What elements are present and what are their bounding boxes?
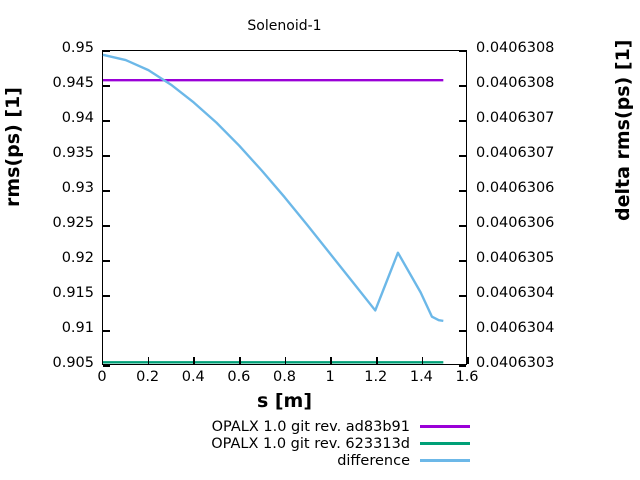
y-axis-left-tick-label: 0.93: [62, 180, 94, 196]
legend-color-swatch: [420, 425, 470, 428]
plot-area: [102, 50, 467, 365]
y-axis-left-tick-label: 0.91: [62, 320, 94, 336]
y-axis-left-tick-label: 0.92: [62, 250, 94, 266]
y-axis-right-tick: [459, 85, 466, 87]
x-axis-tick: [376, 357, 378, 364]
chart-legend: OPALX 1.0 git rev. ad83b91OPALX 1.0 git …: [160, 418, 470, 469]
y-axis-left-label: rms(ps) [1]: [2, 87, 24, 207]
x-axis-tick-label: 0: [97, 369, 106, 385]
x-axis-tick: [330, 357, 332, 364]
y-axis-right-tick-label: 0.0406304: [476, 320, 554, 336]
y-axis-right-tick-label: 0.0406308: [476, 40, 554, 56]
x-axis-label: s [m]: [102, 390, 467, 412]
y-axis-left-tick-label: 0.945: [52, 75, 94, 91]
y-axis-left-tick: [103, 155, 110, 157]
y-axis-left-tick: [103, 295, 110, 297]
x-axis-tick-label: 0.6: [227, 369, 250, 385]
x-axis-tick-label: 0.4: [182, 369, 205, 385]
y-axis-right-tick: [459, 260, 466, 262]
chart-figure: Solenoid-1 rms(ps) [1] delta rms(ps) [1]…: [0, 0, 640, 480]
y-axis-left-tick-label: 0.905: [52, 355, 94, 371]
series-lines: [103, 51, 466, 364]
y-axis-right-label: delta rms(ps) [1]: [612, 40, 634, 221]
y-axis-right-tick-label: 0.0406305: [476, 250, 554, 266]
y-axis-left-tick-label: 0.915: [52, 285, 94, 301]
y-axis-right-tick-label: 0.0406307: [476, 110, 554, 126]
y-axis-left-tick: [103, 50, 110, 52]
legend-item-label: OPALX 1.0 git rev. ad83b91: [212, 419, 410, 435]
y-axis-right-tick-label: 0.0406306: [476, 215, 554, 231]
x-axis-tick-label: 0.8: [273, 369, 296, 385]
chart-title: Solenoid-1: [102, 18, 467, 34]
legend-item[interactable]: OPALX 1.0 git rev. ad83b91: [160, 418, 470, 435]
y-axis-right-tick: [459, 295, 466, 297]
y-axis-left-tick: [103, 225, 110, 227]
series-line: [103, 55, 443, 321]
x-axis-tick-label: 1.4: [410, 369, 433, 385]
x-axis-tick-label: 1.6: [455, 369, 478, 385]
x-axis-tick-label: 1: [326, 369, 335, 385]
y-axis-right-tick: [459, 155, 466, 157]
legend-item[interactable]: difference: [160, 452, 470, 469]
y-axis-left-tick-label: 0.925: [52, 215, 94, 231]
y-axis-left-tick-label: 0.94: [62, 110, 94, 126]
y-axis-right-tick: [459, 225, 466, 227]
y-axis-right-tick: [459, 365, 466, 367]
x-axis-tick: [193, 357, 195, 364]
y-axis-left-tick: [103, 365, 110, 367]
y-axis-left-tick-label: 0.935: [52, 145, 94, 161]
y-axis-right-tick-label: 0.0406303: [476, 355, 554, 371]
legend-color-swatch: [420, 459, 470, 462]
y-axis-right-tick-label: 0.0406308: [476, 75, 554, 91]
y-axis-right-tick: [459, 330, 466, 332]
y-axis-left-tick: [103, 260, 110, 262]
legend-item-label: OPALX 1.0 git rev. 623313d: [211, 436, 410, 452]
x-axis-tick: [239, 357, 241, 364]
x-axis-tick: [148, 357, 150, 364]
y-axis-left-tick: [103, 120, 110, 122]
x-axis-tick: [422, 357, 424, 364]
y-axis-right-tick-label: 0.0406306: [476, 180, 554, 196]
x-axis-tick-label: 1.2: [364, 369, 387, 385]
y-axis-left-tick: [103, 190, 110, 192]
x-axis-tick: [285, 357, 287, 364]
y-axis-left-tick-label: 0.95: [62, 40, 94, 56]
y-axis-right-tick: [459, 120, 466, 122]
legend-item-label: difference: [337, 453, 410, 469]
y-axis-right-tick-label: 0.0406304: [476, 285, 554, 301]
legend-item[interactable]: OPALX 1.0 git rev. 623313d: [160, 435, 470, 452]
y-axis-left-tick: [103, 330, 110, 332]
y-axis-right-tick: [459, 190, 466, 192]
y-axis-right-tick-label: 0.0406307: [476, 145, 554, 161]
x-axis-tick-label: 0.2: [136, 369, 159, 385]
y-axis-right-tick: [459, 50, 466, 52]
y-axis-left-tick: [103, 85, 110, 87]
legend-color-swatch: [420, 442, 470, 445]
x-axis-tick: [467, 357, 469, 364]
